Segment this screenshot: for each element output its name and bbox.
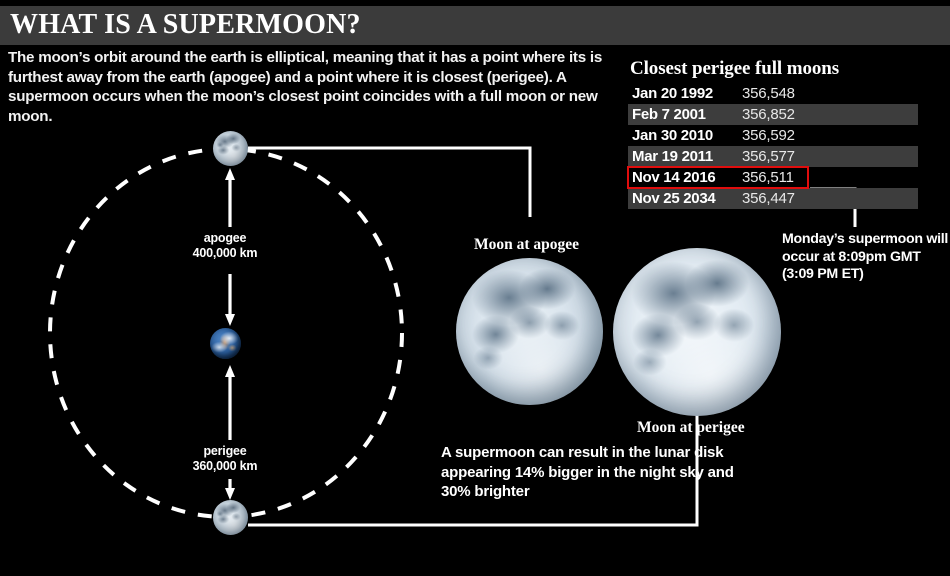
table-row: Nov 14 2016356,511 (628, 167, 808, 188)
connector-apogee (248, 148, 530, 217)
supermoon-time-note: Monday’s supermoon will occur at 8:09pm … (782, 231, 950, 284)
table-body: Jan 20 1992356,548Feb 7 2001356,852Jan 3… (628, 83, 918, 209)
table-cell-distance: 356,548 (742, 85, 795, 102)
moon-at-apogee-image (456, 258, 603, 405)
table-cell-distance: 356,447 (742, 190, 795, 207)
perigee-arrow (225, 365, 235, 500)
moon-apogee-orbit-icon (213, 131, 248, 166)
moon-perigee-orbit-icon (213, 500, 248, 535)
table-title: Closest perigee full moons (630, 58, 918, 80)
table-cell-distance: 356,592 (742, 127, 795, 144)
perigee-label: perigee (145, 444, 305, 459)
table-cell-distance: 356,511 (742, 169, 794, 186)
table-row: Mar 19 2011356,577 (628, 146, 918, 167)
perigee-label-group: perigee 360,000 km (145, 444, 305, 474)
table-row: Jan 30 2010356,592 (628, 125, 918, 146)
table-cell-date: Mar 19 2011 (628, 148, 742, 165)
infographic-root: WHAT IS A SUPERMOON? The moon’s orbit ar… (0, 0, 950, 576)
perigee-distance: 360,000 km (145, 459, 305, 474)
table-cell-distance: 356,577 (742, 148, 795, 165)
perigee-table: Closest perigee full moons Jan 20 199235… (628, 58, 918, 209)
table-cell-date: Feb 7 2001 (628, 106, 742, 123)
apogee-distance: 400,000 km (145, 246, 305, 261)
apogee-label-group: apogee 400,000 km (145, 231, 305, 261)
table-row: Jan 20 1992356,548 (628, 83, 918, 104)
table-cell-date: Nov 25 2034 (628, 190, 742, 207)
caption-moon-at-apogee: Moon at apogee (474, 236, 579, 254)
caption-moon-at-perigee: Moon at perigee (637, 419, 745, 437)
earth-icon (210, 328, 241, 359)
moon-at-perigee-image (613, 248, 781, 416)
apogee-label: apogee (145, 231, 305, 246)
table-row: Nov 25 2034356,447 (628, 188, 918, 209)
table-cell-date: Nov 14 2016 (628, 169, 742, 186)
table-cell-distance: 356,852 (742, 106, 795, 123)
table-cell-date: Jan 30 2010 (628, 127, 742, 144)
table-cell-date: Jan 20 1992 (628, 85, 742, 102)
supermoon-statement: A supermoon can result in the lunar disk… (441, 443, 741, 502)
table-row: Feb 7 2001356,852 (628, 104, 918, 125)
